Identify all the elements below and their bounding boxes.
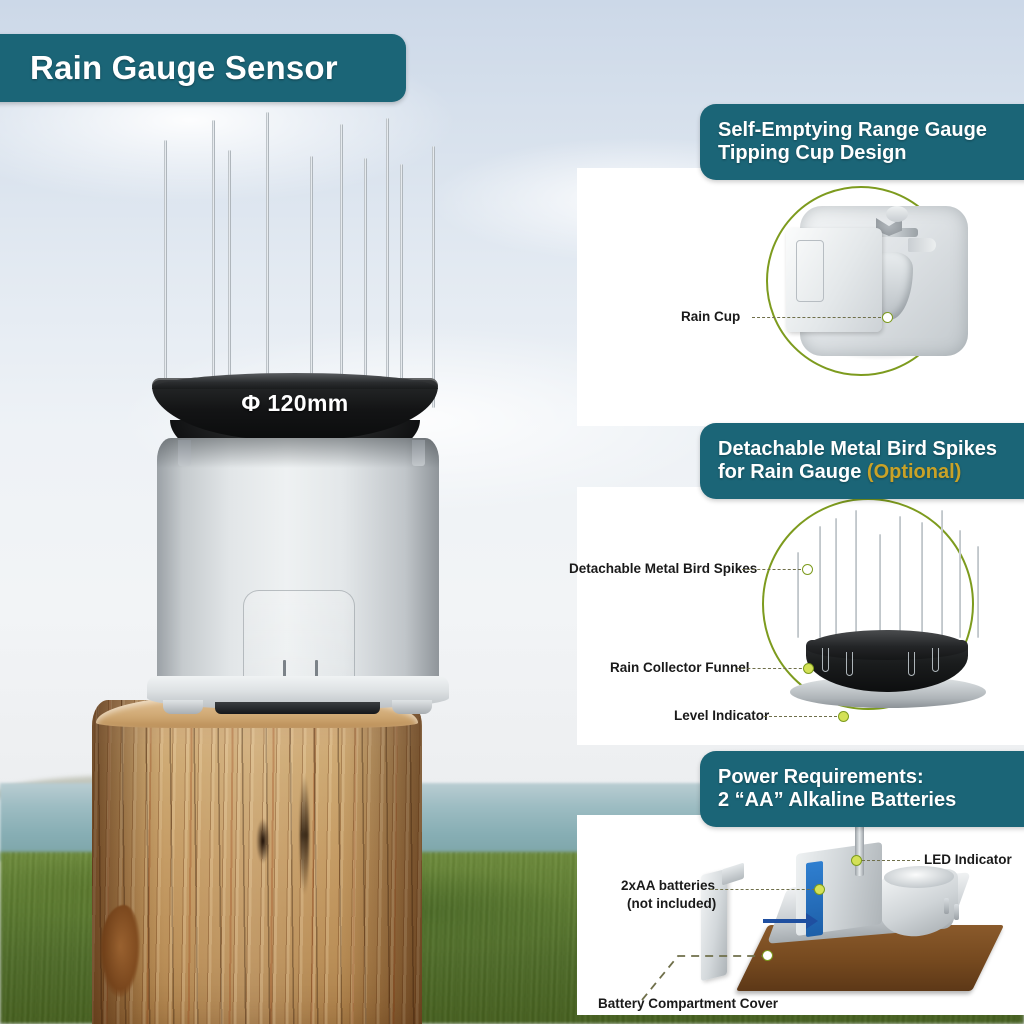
spike-clip-2 [846, 652, 853, 676]
bird-spike-5 [310, 156, 313, 408]
infographic-canvas: Φ 120mm Rain Gauge Sensor Rain Cup Self-… [0, 0, 1024, 1024]
banner2-line2: for Rain Gauge (Optional) [718, 461, 1024, 484]
callout-level-indicator: Level Indicator [674, 708, 769, 723]
leader-line-battery-cover [640, 930, 770, 1002]
callout-detachable-spikes: Detachable Metal Bird Spikes [569, 561, 757, 576]
banner2-line1: Detachable Metal Bird Spikes [718, 438, 1024, 461]
bird-spike-4 [266, 112, 269, 408]
mechanism-rod [855, 820, 864, 876]
insertion-arrow-icon [763, 919, 807, 923]
panel2-bird-spike-10 [977, 546, 979, 638]
leader-line-level [764, 716, 842, 717]
panel2-bird-spike-7 [921, 522, 923, 638]
bird-spike-3 [228, 150, 231, 408]
leader-line-rain-cup [752, 317, 886, 318]
banner2-optional-tag: (Optional) [867, 461, 961, 483]
title-banner: Rain Gauge Sensor [0, 34, 406, 102]
banner-tipping-cup: Self-Emptying Range Gauge Tipping Cup De… [700, 104, 1024, 180]
banner3-line1: Power Requirements: [718, 766, 1024, 789]
banner1-line2: Tipping Cup Design [718, 142, 1024, 165]
leader-dot-spikes [802, 564, 813, 575]
panel2-bird-spike-4 [855, 510, 857, 638]
battery-door-outline [243, 590, 355, 690]
stump-shading [92, 700, 422, 1024]
bird-spike-10 [432, 146, 435, 408]
callout-rain-collector-funnel: Rain Collector Funnel [610, 660, 750, 675]
panel2-bird-spike-8 [941, 510, 943, 638]
spike-clip-4 [932, 648, 939, 672]
panel2-bird-spike-2 [819, 526, 821, 638]
leader-dot-level [838, 711, 849, 722]
callout-aa-batteries-line2: (not included) [627, 896, 716, 911]
bird-spike-7 [364, 158, 367, 408]
page-title: Rain Gauge Sensor [30, 49, 338, 87]
bird-spike-1 [164, 140, 167, 408]
panel2-bird-spike-9 [959, 530, 961, 638]
leader-dot-led [851, 855, 862, 866]
leader-line-spikes [742, 569, 806, 570]
spike-clip-3 [908, 652, 915, 676]
bird-spikes-array [150, 118, 450, 408]
bird-spike-9 [400, 164, 403, 408]
banner-power: Power Requirements: 2 “AA” Alkaline Batt… [700, 751, 1024, 827]
front-plate-recess [796, 240, 824, 302]
callout-led-indicator: LED Indicator [924, 852, 1012, 867]
tipping-knob [886, 206, 908, 222]
banner3-line2: 2 “AA” Alkaline Batteries [718, 789, 1024, 812]
base-foot-left [163, 700, 203, 714]
diameter-label: Φ 120mm [152, 390, 438, 417]
banner1-line1: Self-Emptying Range Gauge [718, 119, 1024, 142]
panel2-bird-spike-3 [835, 518, 837, 638]
sensor-body-shading [157, 438, 439, 468]
bird-spike-6 [340, 124, 343, 408]
panel2-funnel-rim [806, 630, 968, 660]
callout-rain-cup: Rain Cup [681, 309, 740, 324]
leader-dot-batteries [814, 884, 825, 895]
leader-dot-rain-cup [882, 312, 893, 323]
banner2-line2-main: for Rain Gauge [718, 461, 867, 483]
panel2-bird-spike-1 [797, 552, 799, 638]
leader-dot-battery-cover [762, 950, 773, 961]
tipping-cup-fin [908, 238, 936, 252]
base-shadow-gap [215, 702, 380, 714]
bird-spike-8 [386, 118, 389, 408]
banner-bird-spikes: Detachable Metal Bird Spikes for Rain Ga… [700, 423, 1024, 499]
body-notch-left [178, 440, 191, 466]
panel2-bird-spike-5 [879, 534, 881, 638]
panel2-spikes-array [795, 508, 985, 638]
callout-aa-batteries-line1: 2xAA batteries [621, 878, 715, 893]
spike-clip-1 [822, 648, 829, 672]
base-foot-right [392, 700, 432, 714]
leader-dot-funnel [803, 663, 814, 674]
body-notch-right [412, 440, 425, 466]
bird-spike-2 [212, 120, 215, 408]
mechanism-pin-1 [944, 898, 949, 914]
leader-line-led [862, 860, 920, 861]
leader-line-batteries [710, 889, 820, 890]
leader-line-funnel [737, 668, 807, 669]
mechanism-pin-2 [954, 904, 959, 920]
panel2-bird-spike-6 [899, 516, 901, 638]
